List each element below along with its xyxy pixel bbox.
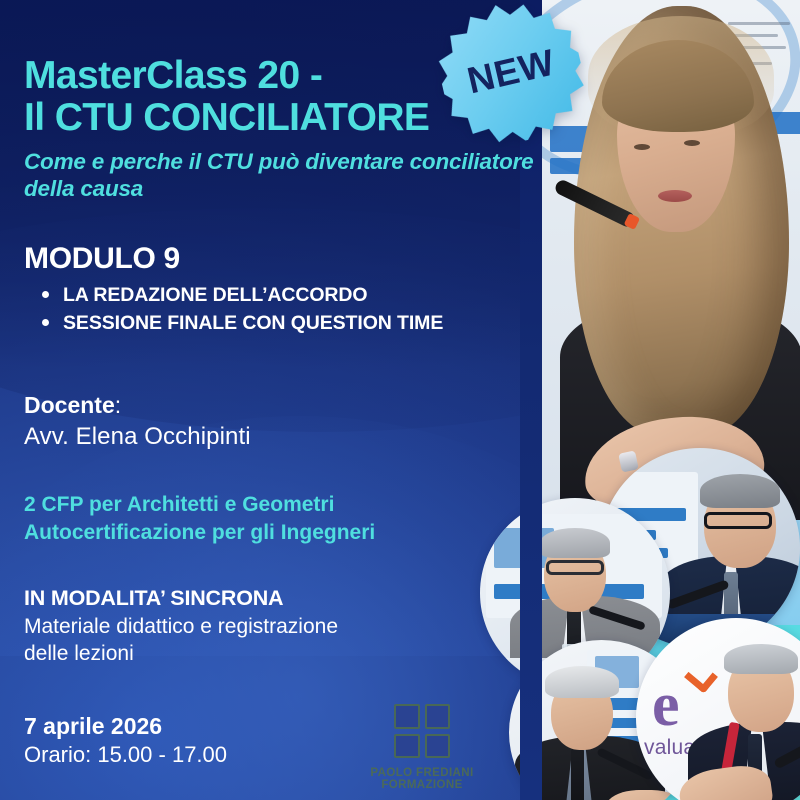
mode-description: Materiale didattico e registrazione dell… (24, 614, 545, 667)
list-item: LA REDAZIONE DELL’ACCORDO (42, 282, 545, 310)
event-time: Orario: 15.00 - 17.00 (24, 742, 545, 768)
circle-person-hair (724, 644, 798, 674)
title-line-1: MasterClass 20 - (24, 54, 322, 97)
speaker-photo-circle-4: e valuation (636, 618, 800, 800)
credits-line-2: Autocertificazione per gli Ingegneri (24, 519, 545, 547)
mode-description-line-2: delle lezioni (24, 641, 545, 667)
circle-person-tie (571, 748, 584, 800)
speaker-lips (658, 190, 692, 202)
credits-info: 2 CFP per Architetti e Geometri Autocert… (24, 491, 545, 546)
list-item: SESSIONE FINALE CON QUESTION TIME (42, 310, 545, 338)
teacher-label: Docente: (24, 392, 545, 419)
module-title: MODULO 9 (24, 242, 545, 276)
mode-title: IN MODALITA’ SINCRONA (24, 586, 545, 611)
glasses-icon (704, 512, 772, 529)
backdrop-textline (728, 22, 790, 25)
speaker-eye (634, 144, 650, 150)
mode-description-line-1: Materiale didattico e registrazione (24, 615, 338, 638)
poster-canvas: e valuation NEW (0, 0, 800, 800)
glasses-icon (546, 560, 604, 575)
evaluation-logo-letter: e (652, 674, 680, 736)
circle-person-hair (700, 474, 780, 508)
circle-person-hair (540, 528, 610, 558)
event-date: 7 aprile 2026 (24, 713, 545, 740)
module-bullet-list: LA REDAZIONE DELL’ACCORDO SESSIONE FINAL… (24, 282, 545, 337)
speaker-eye (684, 140, 700, 146)
subtitle: Come e perche il CTU può diventare conci… (24, 148, 545, 202)
subtitle-line-1: Come e perche il CTU può diventare (24, 149, 404, 174)
teacher-label-colon: : (115, 392, 121, 418)
teacher-label-text: Docente (24, 392, 115, 418)
teacher-name: Avv. Elena Occhipinti (24, 423, 545, 451)
credits-line-1: 2 CFP per Architetti e Geometri (24, 493, 334, 516)
circle-person-hair (545, 666, 619, 698)
